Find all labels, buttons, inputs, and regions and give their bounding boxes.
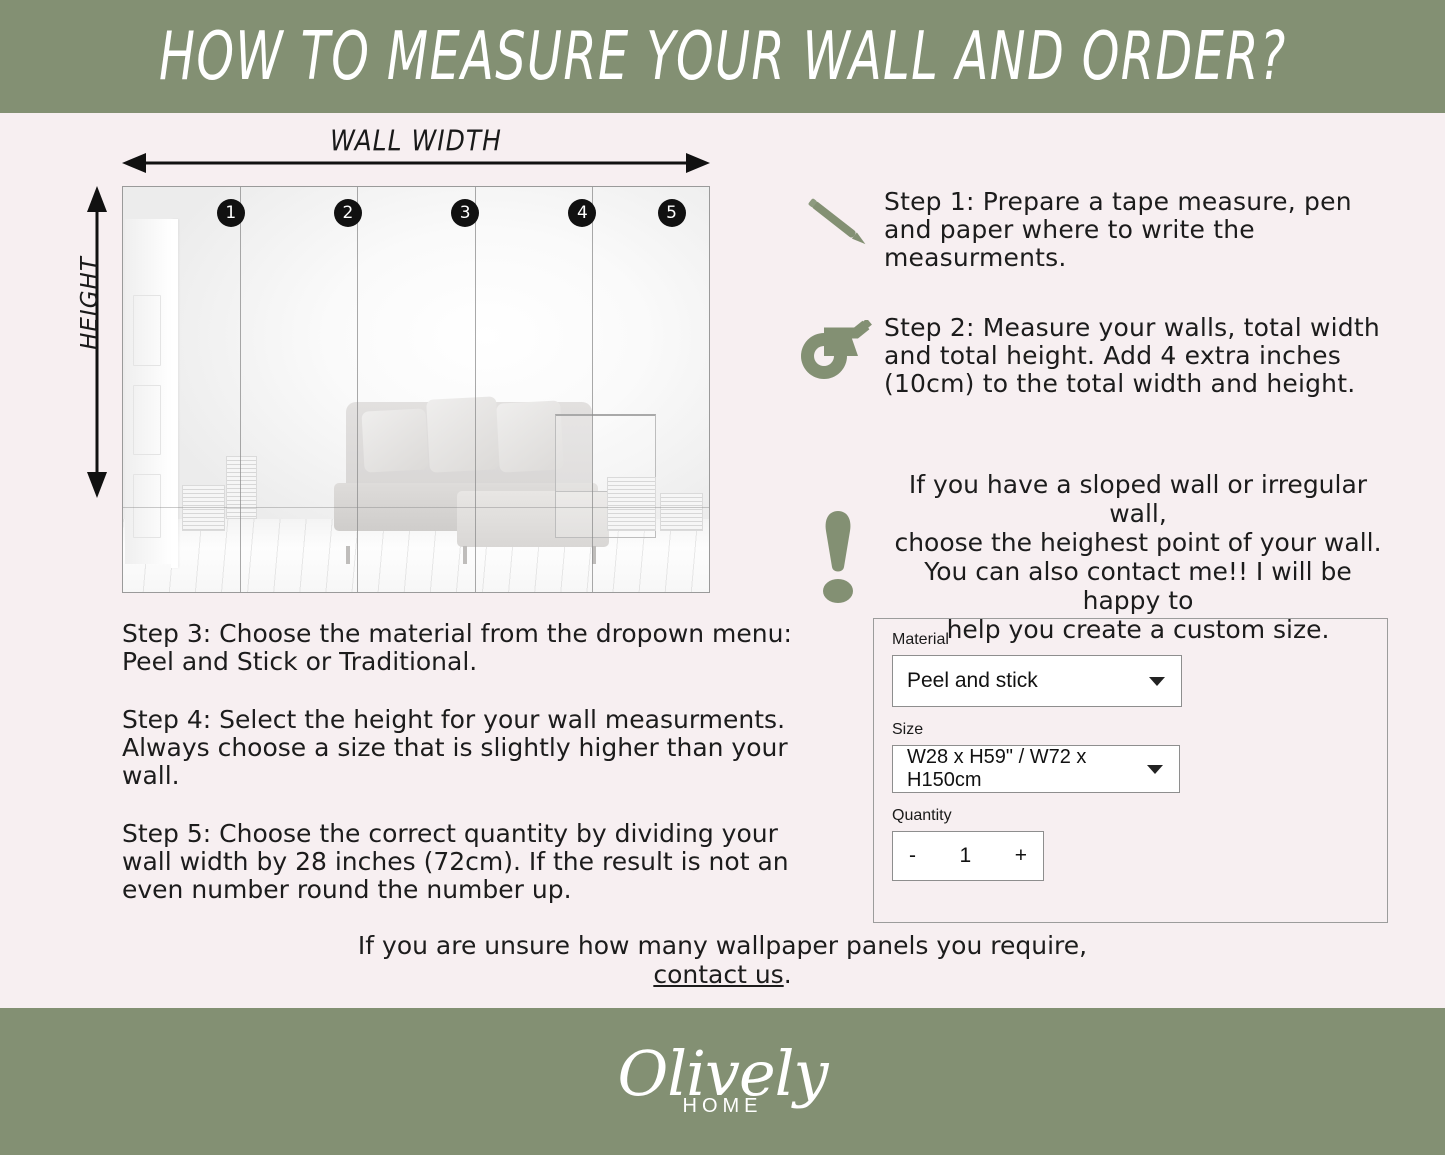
quantity-value: 1	[960, 844, 972, 868]
size-value: W28 x H59" / W72 x H150cm	[907, 746, 1165, 792]
size-label: Size	[892, 721, 1369, 739]
panel-number-5: 5	[658, 199, 686, 227]
bottom-note: If you are unsure how many wallpaper pan…	[0, 932, 1445, 990]
panel-number-3: 3	[451, 199, 479, 227]
step-2-row: Step 2: Measure your walls, total width …	[792, 314, 1392, 398]
step-1-row: Step 1: Prepare a tape measure, pen and …	[792, 188, 1392, 272]
tape-measure-icon	[792, 314, 884, 382]
note-line-1: If you have a sloped wall or irregular w…	[884, 470, 1392, 528]
panel-number-2: 2	[334, 199, 362, 227]
step-4-text: Step 4: Select the height for your wall …	[122, 706, 822, 790]
bottom-note-line: If you are unsure how many wallpaper pan…	[0, 932, 1445, 961]
contact-period: .	[784, 960, 792, 989]
contact-us-link[interactable]: contact us	[653, 960, 783, 989]
material-select[interactable]: Peel and stick	[892, 655, 1182, 707]
panel-split-lines	[123, 187, 709, 592]
step-1-text: Step 1: Prepare a tape measure, pen and …	[884, 188, 1392, 272]
order-form-panel: Material Peel and stick Size W28 x H59" …	[873, 618, 1388, 923]
steps-column-left: Step 3: Choose the material from the dro…	[122, 620, 822, 934]
chevron-down-icon	[1147, 765, 1163, 774]
note-line-2: choose the heighest point of your wall.	[884, 528, 1392, 557]
exclamation-icon	[792, 509, 884, 605]
page-title: HOW TO MEASURE YOUR WALL AND ORDER?	[159, 18, 1287, 95]
quantity-decrement-button[interactable]: -	[909, 844, 916, 868]
contact-line: contact us.	[0, 961, 1445, 990]
step-2-text: Step 2: Measure your walls, total width …	[884, 314, 1392, 398]
wall-width-arrow-icon	[122, 152, 710, 174]
step-5-text: Step 5: Choose the correct quantity by d…	[122, 820, 822, 904]
panel-number-1: 1	[217, 199, 245, 227]
header-bar: HOW TO MEASURE YOUR WALL AND ORDER?	[0, 0, 1445, 113]
quantity-label: Quantity	[892, 807, 1369, 825]
steps-column-right: Step 1: Prepare a tape measure, pen and …	[792, 188, 1392, 644]
chevron-down-icon	[1149, 677, 1165, 686]
quantity-stepper[interactable]: - 1 +	[892, 831, 1044, 881]
wall-preview-image: 1 2 3 4 5	[122, 186, 710, 593]
material-value: Peel and stick	[907, 669, 1038, 693]
wall-height-label: HEIGHT	[77, 256, 103, 350]
step-3-text: Step 3: Choose the material from the dro…	[122, 620, 822, 676]
pencil-icon	[792, 188, 884, 254]
brand-logo-subtitle: HOME	[683, 1095, 763, 1118]
footer-bar: Olively HOME	[0, 1008, 1445, 1155]
material-label: Material	[892, 631, 1369, 649]
quantity-increment-button[interactable]: +	[1015, 844, 1027, 868]
size-select[interactable]: W28 x H59" / W72 x H150cm	[892, 745, 1180, 793]
note-line-3: You can also contact me!! I will be happ…	[884, 557, 1392, 615]
